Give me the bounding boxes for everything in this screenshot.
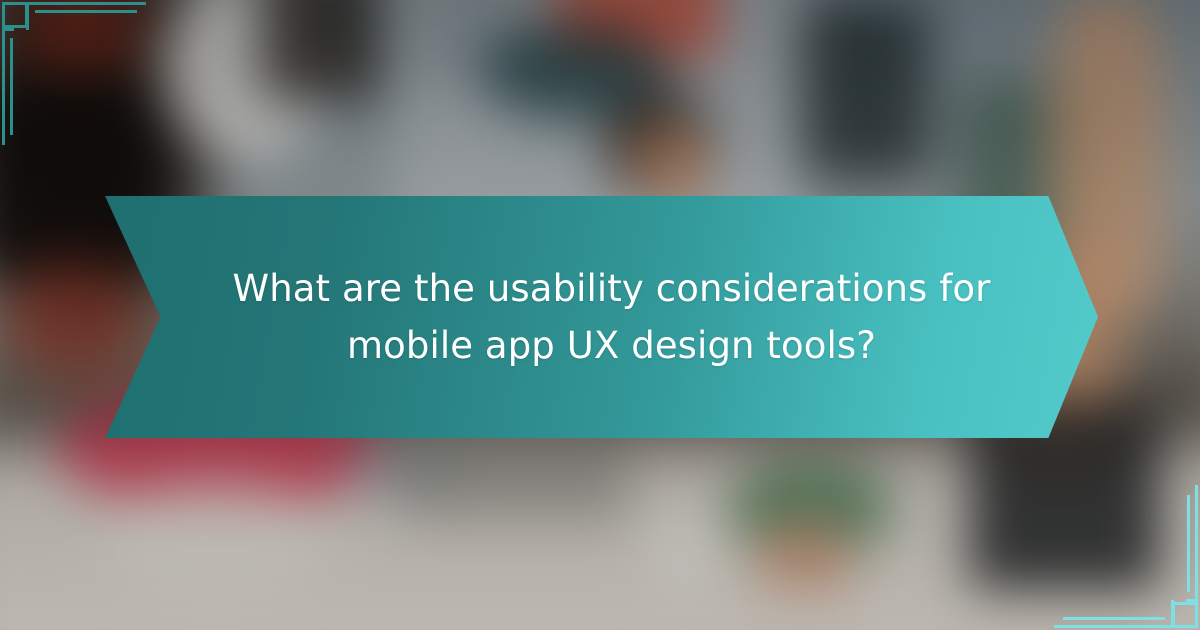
corner-line-br-v-inner	[1187, 495, 1190, 592]
corner-square-tl	[2, 2, 28, 28]
corner-bracket-bottom-right	[1030, 460, 1200, 630]
corner-line-br-elbow	[1186, 599, 1198, 602]
corner-line-br-h-inner	[1063, 617, 1165, 620]
corner-line-br-h-outer	[1054, 625, 1172, 628]
corner-bracket-top-left	[0, 0, 170, 170]
share-card: What are the usability considerations fo…	[0, 0, 1200, 630]
corner-line-br-elbow2	[1171, 600, 1174, 628]
headline-text: What are the usability considerations fo…	[105, 196, 1098, 438]
headline-line-1: What are the usability considerations fo…	[233, 260, 991, 317]
corner-line-tl-h-inner	[35, 10, 137, 13]
corner-line-tl-elbow2	[26, 2, 29, 30]
corner-line-tl-v-inner	[10, 38, 13, 135]
headline-banner: What are the usability considerations fo…	[105, 196, 1098, 438]
corner-line-tl-elbow	[2, 28, 14, 31]
corner-line-tl-h-outer	[28, 2, 146, 5]
headline-line-2: mobile app UX design tools?	[347, 317, 876, 374]
corner-line-tl-v-outer	[2, 30, 5, 145]
corner-square-br	[1172, 602, 1198, 628]
corner-line-br-v-outer	[1195, 485, 1198, 600]
